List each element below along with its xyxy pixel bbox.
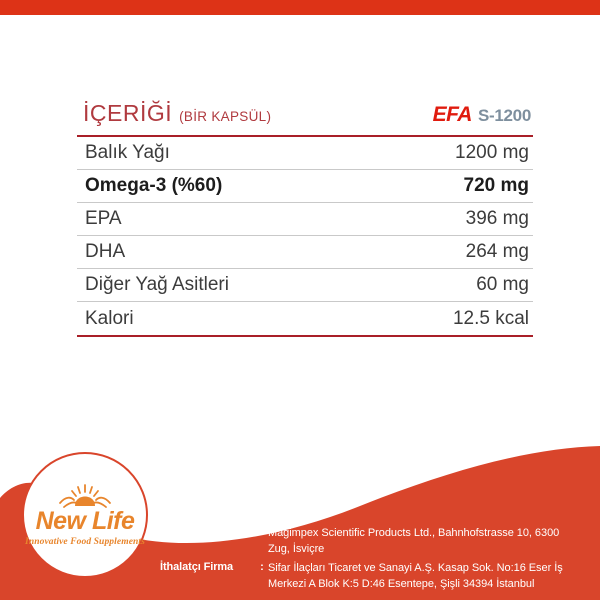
company-details: İhracatçı Firma : Magimpex Scientific Pr… — [160, 526, 592, 596]
nutrition-table: Balık Yağı 1200 mg Omega-3 (%60) 720 mg … — [77, 137, 533, 335]
table-bottom-rule — [77, 335, 533, 337]
panel-header: İÇERİĞİ (BİR KAPSÜL) EFA S-1200 — [77, 100, 533, 135]
row-label: Diğer Yağ Asitleri — [85, 274, 229, 296]
row-value: 1200 mg — [455, 142, 529, 164]
importer-address-line1: Sifar İlaçları Ticaret ve Sanayi A.Ş. Ka… — [268, 562, 563, 574]
row-label: Omega-3 (%60) — [85, 175, 222, 197]
exporter-address: Magimpex Scientific Products Ltd., Bahnh… — [268, 526, 559, 557]
exporter-label: İhracatçı Firma — [160, 526, 256, 538]
row-label: EPA — [85, 208, 122, 230]
row-value: 12.5 kcal — [453, 308, 529, 330]
row-value: 264 mg — [466, 241, 529, 263]
brand-name: EFA — [433, 103, 472, 127]
row-value: 60 mg — [476, 274, 529, 296]
table-row: DHA 264 mg — [77, 236, 533, 269]
importer-colon: : — [256, 561, 268, 573]
row-label: Kalori — [85, 308, 134, 330]
exporter-block: İhracatçı Firma : Magimpex Scientific Pr… — [160, 526, 592, 557]
table-row: EPA 396 mg — [77, 203, 533, 236]
table-row: Omega-3 (%60) 720 mg — [77, 170, 533, 203]
table-row: Kalori 12.5 kcal — [77, 302, 533, 335]
logo-name: New Life — [36, 509, 135, 534]
supplement-facts-panel: İÇERİĞİ (BİR KAPSÜL) EFA S-1200 Balık Ya… — [77, 100, 533, 337]
logo-tagline: Innovative Food Supplements — [25, 537, 145, 547]
row-label: Balık Yağı — [85, 142, 170, 164]
top-red-bar — [0, 0, 600, 15]
importer-label: İthalatçı Firma — [160, 561, 256, 573]
panel-header-left: İÇERİĞİ (BİR KAPSÜL) — [83, 100, 271, 127]
exporter-address-line1: Magimpex Scientific Products Ltd., Bahnh… — [268, 527, 559, 539]
panel-header-right: EFA S-1200 — [433, 103, 531, 127]
brand-logo: New Life Innovative Food Supplements — [22, 452, 148, 578]
importer-block: İthalatçı Firma : Sifar İlaçları Ticaret… — [160, 561, 592, 592]
panel-subtitle: (BİR KAPSÜL) — [179, 109, 271, 124]
row-value: 396 mg — [466, 208, 529, 230]
table-row: Diğer Yağ Asitleri 60 mg — [77, 269, 533, 302]
row-label: DHA — [85, 241, 125, 263]
panel-title: İÇERİĞİ — [83, 100, 172, 127]
importer-address-line2: Merkezi A Blok K:5 D:46 Esentepe, Şişli … — [268, 578, 534, 590]
row-value: 720 mg — [464, 175, 529, 197]
table-row: Balık Yağı 1200 mg — [77, 137, 533, 170]
importer-address: Sifar İlaçları Ticaret ve Sanayi A.Ş. Ka… — [268, 561, 563, 592]
product-code: S-1200 — [478, 106, 531, 126]
sunburst-icon — [54, 484, 116, 510]
exporter-address-line2: Zug, İsviçre — [268, 543, 324, 555]
exporter-colon: : — [256, 526, 268, 538]
